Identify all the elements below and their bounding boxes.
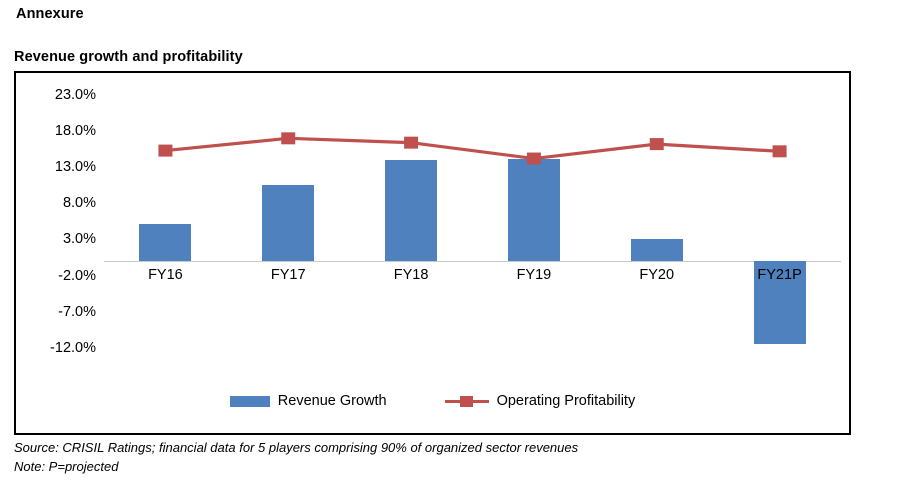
y-tick-label: 23.0% bbox=[22, 87, 96, 103]
x-tick-label-fy19: FY19 bbox=[489, 267, 579, 283]
line-path-operating-profitability bbox=[165, 138, 779, 158]
legend-label-revenue-growth: Revenue Growth bbox=[278, 393, 387, 409]
note-text: Note: P=projected bbox=[14, 458, 578, 477]
line-marker-fy20 bbox=[650, 138, 664, 150]
line-marker-fy16 bbox=[158, 145, 172, 157]
line-marker-fy19 bbox=[527, 153, 541, 165]
y-tick-label: -2.0% bbox=[22, 268, 96, 284]
chart-legend: Revenue Growth Operating Profitability bbox=[16, 393, 849, 409]
y-tick-label: 18.0% bbox=[22, 123, 96, 139]
x-tick-label-fy17: FY17 bbox=[243, 267, 333, 283]
y-tick-label: 3.0% bbox=[22, 231, 96, 247]
y-axis-tick-labels: 23.0%18.0%13.0%8.0%3.0%-2.0%-7.0%-12.0% bbox=[22, 73, 96, 433]
y-tick-label: -7.0% bbox=[22, 304, 96, 320]
line-marker-fy21p bbox=[773, 145, 787, 157]
legend-label-operating-profitability: Operating Profitability bbox=[497, 393, 636, 409]
x-tick-label-fy20: FY20 bbox=[612, 267, 702, 283]
x-tick-label-fy16: FY16 bbox=[120, 267, 210, 283]
legend-item-revenue-growth[interactable]: Revenue Growth bbox=[230, 393, 387, 409]
footnotes: Source: CRISIL Ratings; financial data f… bbox=[14, 439, 578, 477]
plot-area: 23.0%18.0%13.0%8.0%3.0%-2.0%-7.0%-12.0% … bbox=[16, 73, 849, 433]
chart-title: Revenue growth and profitability bbox=[14, 49, 243, 65]
legend-line-swatch-icon bbox=[445, 395, 489, 407]
x-tick-label-fy18: FY18 bbox=[366, 267, 456, 283]
y-tick-label: 8.0% bbox=[22, 195, 96, 211]
y-tick-label: 13.0% bbox=[22, 159, 96, 175]
x-tick-label-fy21p: FY21P bbox=[735, 267, 825, 283]
line-marker-fy18 bbox=[404, 137, 418, 149]
y-tick-label: -12.0% bbox=[22, 340, 96, 356]
annexure-heading: Annexure bbox=[16, 6, 84, 22]
line-series-operating-profitability bbox=[104, 73, 841, 433]
line-series-svg bbox=[104, 73, 841, 433]
line-marker-fy17 bbox=[281, 132, 295, 144]
source-text: Source: CRISIL Ratings; financial data f… bbox=[14, 439, 578, 458]
legend-bar-swatch-icon bbox=[230, 396, 270, 407]
chart-container: 23.0%18.0%13.0%8.0%3.0%-2.0%-7.0%-12.0% … bbox=[14, 71, 851, 435]
legend-item-operating-profitability[interactable]: Operating Profitability bbox=[445, 393, 636, 409]
